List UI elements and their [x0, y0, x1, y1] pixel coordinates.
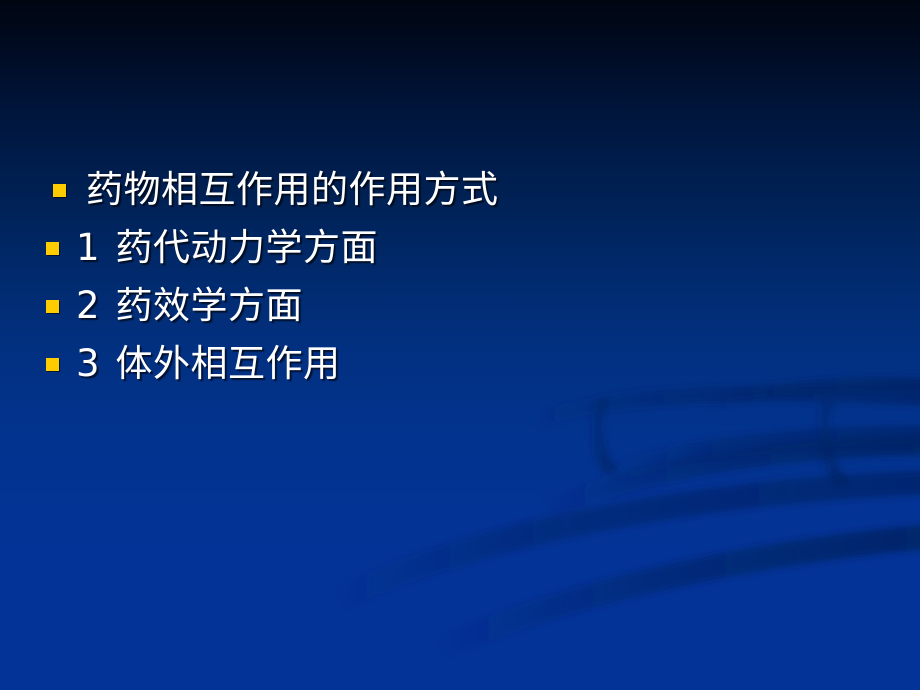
bullet-item-number: 2 — [76, 284, 100, 327]
bullet-item-label: 体外相互作用 — [116, 342, 341, 385]
bullet-item-number: 3 — [76, 342, 100, 385]
bullet-item-label: 药代动力学方面 — [116, 226, 379, 269]
bullet-item-text: 3体外相互作用 — [76, 345, 341, 382]
list-item[interactable]: 药物相互作用的作用方式 — [46, 160, 886, 218]
list-item[interactable]: 2药效学方面 — [46, 276, 886, 334]
bullet-item-text: 1药代动力学方面 — [76, 229, 378, 266]
list-item[interactable]: 1药代动力学方面 — [46, 218, 886, 276]
bullet-item-label: 药效学方面 — [116, 284, 304, 327]
square-bullet-icon — [46, 300, 59, 313]
square-bullet-icon — [53, 184, 66, 197]
square-bullet-icon — [46, 242, 59, 255]
bullet-item-number: 1 — [76, 226, 100, 269]
slide-content: 药物相互作用的作用方式 1药代动力学方面 2药效学方面 3体外相互作用 — [0, 0, 920, 690]
list-item[interactable]: 3体外相互作用 — [46, 334, 886, 392]
presentation-slide: 药物相互作用的作用方式 1药代动力学方面 2药效学方面 3体外相互作用 — [0, 0, 920, 690]
square-bullet-icon — [46, 358, 59, 371]
bullet-item-label: 药物相互作用的作用方式 — [86, 171, 499, 208]
bullet-item-text: 2药效学方面 — [76, 287, 303, 324]
bullet-list: 药物相互作用的作用方式 1药代动力学方面 2药效学方面 3体外相互作用 — [46, 160, 886, 392]
